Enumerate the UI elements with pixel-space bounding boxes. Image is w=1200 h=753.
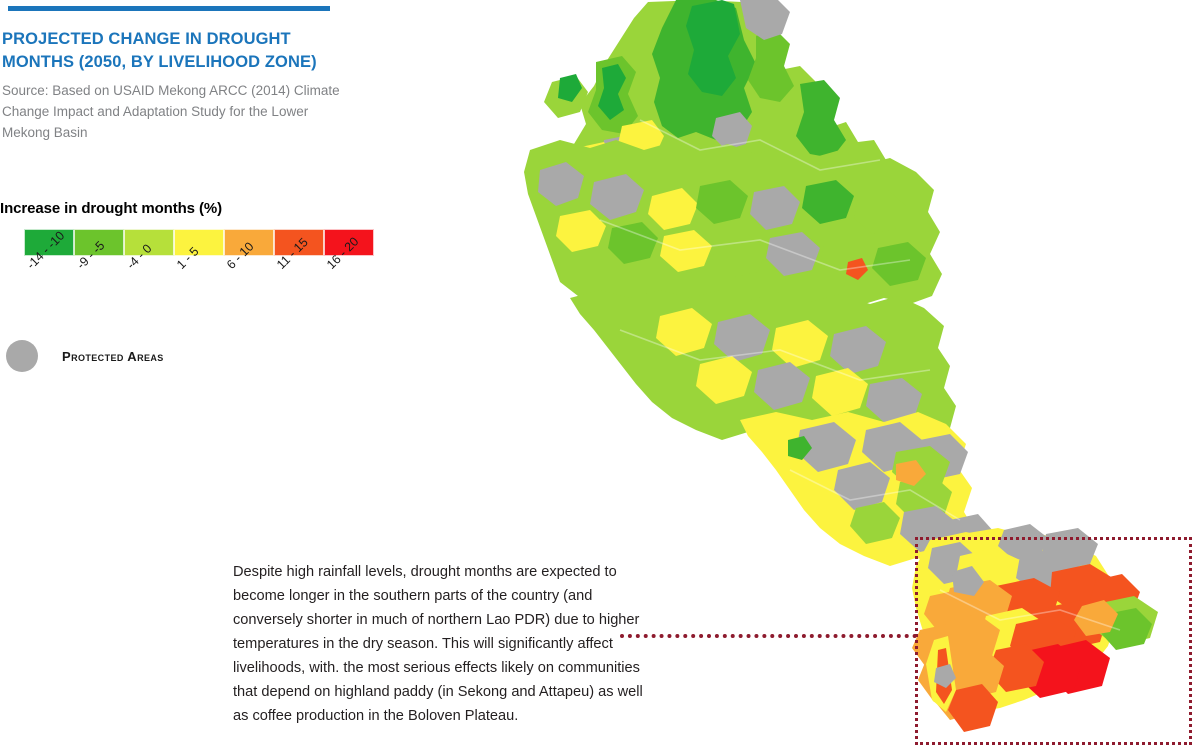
zone-cy-green-a xyxy=(892,446,950,490)
zone-north-huaphan xyxy=(796,80,846,158)
zone-nc-green-a xyxy=(696,180,748,224)
zone-nc-green-e xyxy=(712,234,766,278)
protected-area-north-b xyxy=(712,112,752,150)
protected-area-nc-c xyxy=(750,186,800,230)
zone-nc-green-f xyxy=(820,236,874,280)
protected-area-nc-b xyxy=(590,174,644,220)
zone-middle-core xyxy=(570,290,956,440)
zone-nc-yellow-a xyxy=(648,188,698,230)
protected-areas-swatch-icon xyxy=(6,340,38,372)
protected-area-cy-c xyxy=(914,434,968,480)
zone-north-deepgreen-b xyxy=(598,64,626,120)
protected-areas-label: Protected Areas xyxy=(62,349,164,364)
protected-areas-key: Protected Areas xyxy=(6,340,164,372)
zone-nc-green-b xyxy=(802,180,854,224)
protected-area-mid-d xyxy=(866,378,922,424)
protected-area-mid-b xyxy=(830,326,886,374)
protected-area-mid-c xyxy=(754,362,810,410)
callout-highlight-box xyxy=(915,537,1192,745)
zone-north-west-a xyxy=(544,76,588,118)
protected-area-cy-a xyxy=(796,422,856,472)
zone-nc-orange-spot xyxy=(846,258,868,280)
page-title: PROJECTED CHANGE IN DROUGHT MONTHS (2050… xyxy=(2,28,362,74)
zone-north-phongsaly xyxy=(652,0,756,140)
zone-north-luangnamtha xyxy=(588,56,638,134)
zone-cy-green-c xyxy=(850,502,900,544)
zone-middle-yellow-a xyxy=(656,308,712,356)
zone-middle-green-a xyxy=(882,336,934,382)
protected-area-north-a xyxy=(740,0,790,40)
map-region-middle xyxy=(570,290,956,440)
source-note: Source: Based on USAID Mekong ARCC (2014… xyxy=(2,80,352,144)
zone-cy-orange-spot xyxy=(896,460,926,486)
zone-north-core xyxy=(572,0,886,216)
zone-cy-deepgreen-spot xyxy=(788,436,812,460)
protected-area-nc-d xyxy=(766,232,820,276)
zone-north-deepgreen-c xyxy=(558,74,582,102)
map-region-north xyxy=(544,0,886,216)
zone-cy-green-b xyxy=(896,474,952,524)
legend: Increase in drought months (%) -14 - -10… xyxy=(0,200,400,318)
zone-middle-yellow-d xyxy=(812,368,868,416)
body-paragraph: Despite high rainfall levels, drought mo… xyxy=(233,560,653,729)
callout-leader-line xyxy=(620,634,917,638)
protected-area-north-c xyxy=(600,134,650,176)
zone-nc-green-d xyxy=(608,222,658,264)
map-region-north-central xyxy=(524,140,942,306)
zone-nc-green-g xyxy=(872,242,926,286)
protected-area-nc-a xyxy=(538,162,584,206)
zone-middle-yellow-b xyxy=(772,320,828,368)
zone-nc-yellow-b xyxy=(556,210,606,252)
protected-area-cy-d xyxy=(834,462,890,510)
zone-north-yellow-a xyxy=(618,120,664,158)
zone-nc-yellow-c xyxy=(660,230,712,272)
zone-north-east-a xyxy=(748,30,794,102)
protected-area-cy-b xyxy=(862,422,922,472)
zone-central-core xyxy=(524,140,942,306)
zone-north-yellow-b xyxy=(570,142,614,180)
zone-north-deepgreen-a xyxy=(686,0,740,96)
protected-area-mid-a xyxy=(714,314,770,362)
zone-middle-yellow-c xyxy=(696,356,752,404)
title-block: PROJECTED CHANGE IN DROUGHT MONTHS (2050… xyxy=(2,28,362,144)
legend-labels: -14 - -10 -9 - -5 -4 - 0 1 - 5 6 - 10 11… xyxy=(24,256,374,318)
header-rule xyxy=(8,6,330,11)
legend-title: Increase in drought months (%) xyxy=(0,200,400,217)
zone-nc-green-c xyxy=(854,190,906,234)
infographic-page: PROJECTED CHANGE IN DROUGHT MONTHS (2050… xyxy=(0,0,1200,753)
